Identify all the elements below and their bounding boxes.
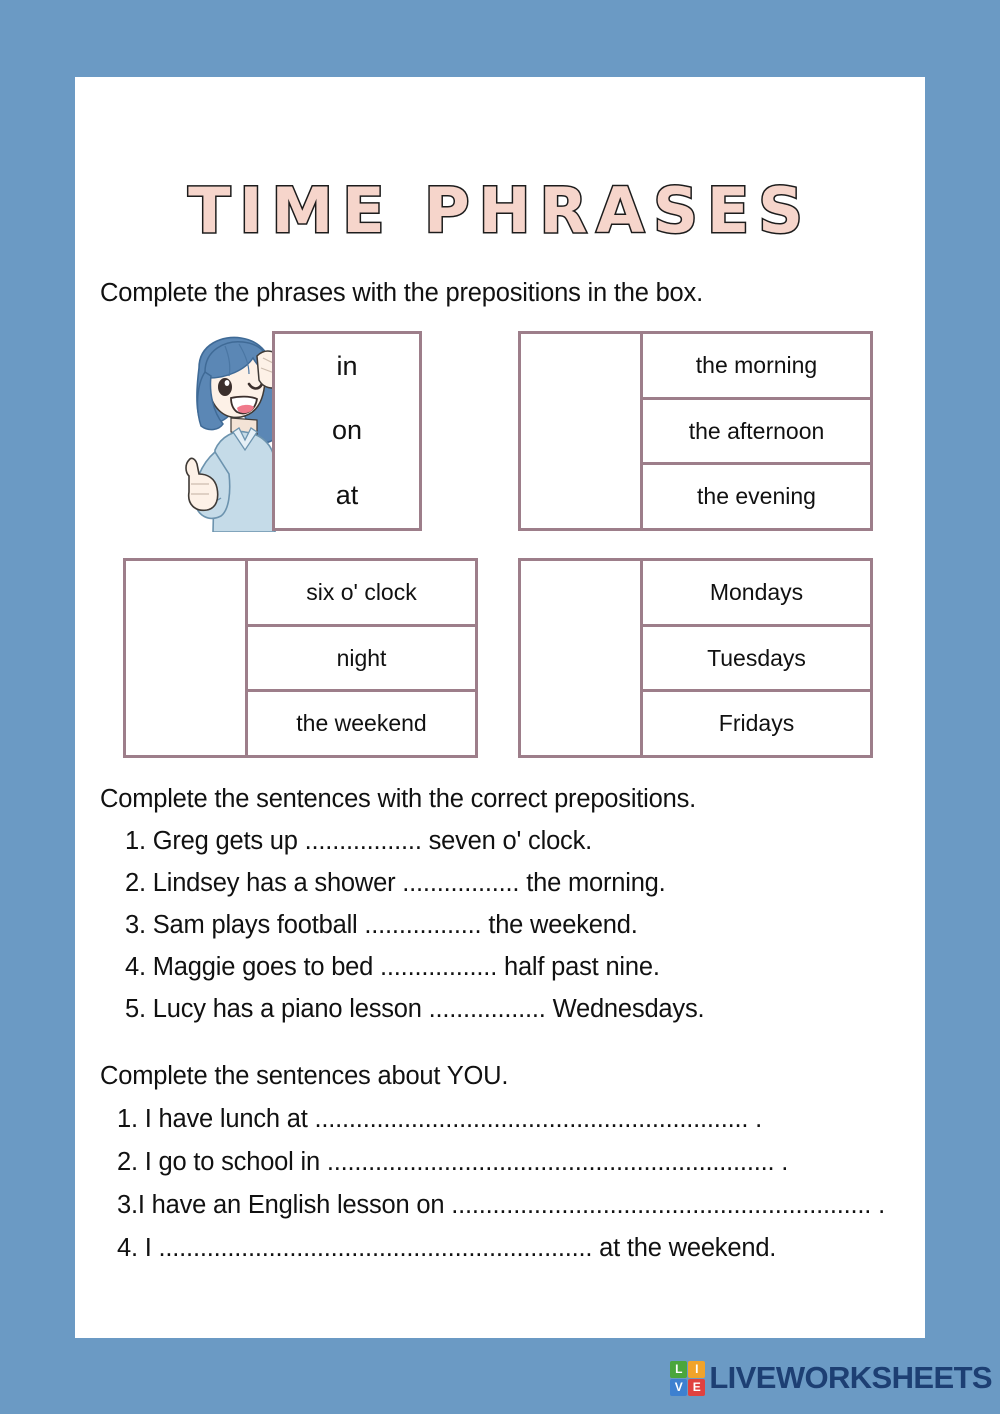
list-item[interactable]: 2. I go to school in ...................… [75, 1148, 925, 1177]
phrase-cell: the evening [643, 465, 870, 528]
logo-square-l: L [670, 1361, 687, 1378]
phrase-cell: Fridays [643, 692, 870, 755]
logo-squares-icon: L I V E [670, 1361, 705, 1396]
liveworksheets-logo[interactable]: L I V E LIVEWORKSHEETS [670, 1360, 992, 1396]
instruction-prepositions-box: Complete the phrases with the prepositio… [75, 242, 925, 308]
phrase-cell: six o' clock [248, 561, 475, 627]
preposition-options-box: in on at [272, 331, 422, 531]
list-item[interactable]: 3. Sam plays football ................. … [75, 911, 925, 940]
logo-brand-text: LIVEWORKSHEETS [709, 1360, 992, 1396]
logo-square-e: E [688, 1379, 705, 1396]
list-item[interactable]: 1. Greg gets up ................. seven … [75, 827, 925, 856]
match-box-times: six o' clock night the weekend [123, 558, 478, 758]
phrase-column-times: six o' clock night the weekend [248, 561, 475, 755]
worksheet-page: TIME PHRASES Complete the phrases with t… [75, 77, 925, 1338]
list-item[interactable]: 4. Maggie goes to bed ................. … [75, 953, 925, 982]
girl-thumbs-up-icon [165, 332, 280, 532]
match-box-dayparts: the morning the afternoon the evening [518, 331, 873, 531]
answer-blank-dayparts[interactable] [521, 334, 643, 528]
list-item[interactable]: 1. I have lunch at .....................… [75, 1105, 925, 1134]
phrase-cell: the morning [643, 334, 870, 400]
page-title-container: TIME PHRASES [75, 77, 925, 242]
exercise-list-about-you: 1. I have lunch at .....................… [75, 1105, 925, 1263]
phrase-column-days: Mondays Tuesdays Fridays [643, 561, 870, 755]
matching-boxes-area: in on at the morning the afternoon the e… [75, 330, 925, 755]
page-title: TIME PHRASES [188, 180, 812, 242]
preposition-option-in: in [336, 351, 357, 382]
list-item[interactable]: 2. Lindsey has a shower ................… [75, 869, 925, 898]
phrase-cell: the weekend [248, 692, 475, 755]
answer-blank-times[interactable] [126, 561, 248, 755]
logo-square-v: V [670, 1379, 687, 1396]
answer-blank-days[interactable] [521, 561, 643, 755]
match-box-days: Mondays Tuesdays Fridays [518, 558, 873, 758]
phrase-cell: the afternoon [643, 400, 870, 466]
preposition-option-on: on [332, 415, 362, 446]
instruction-correct-prepositions: Complete the sentences with the correct … [75, 785, 925, 814]
list-item[interactable]: 3.I have an English lesson on ..........… [75, 1191, 925, 1220]
phrase-cell: Tuesdays [643, 627, 870, 693]
exercise-list-prepositions: 1. Greg gets up ................. seven … [75, 827, 925, 1024]
phrase-cell: night [248, 627, 475, 693]
list-item[interactable]: 4. I ...................................… [75, 1234, 925, 1263]
preposition-option-at: at [336, 480, 359, 511]
phrase-column-dayparts: the morning the afternoon the evening [643, 334, 870, 528]
logo-square-i: I [688, 1361, 705, 1378]
instruction-about-you: Complete the sentences about YOU. [75, 1062, 925, 1091]
list-item[interactable]: 5. Lucy has a piano lesson .............… [75, 995, 925, 1024]
phrase-cell: Mondays [643, 561, 870, 627]
